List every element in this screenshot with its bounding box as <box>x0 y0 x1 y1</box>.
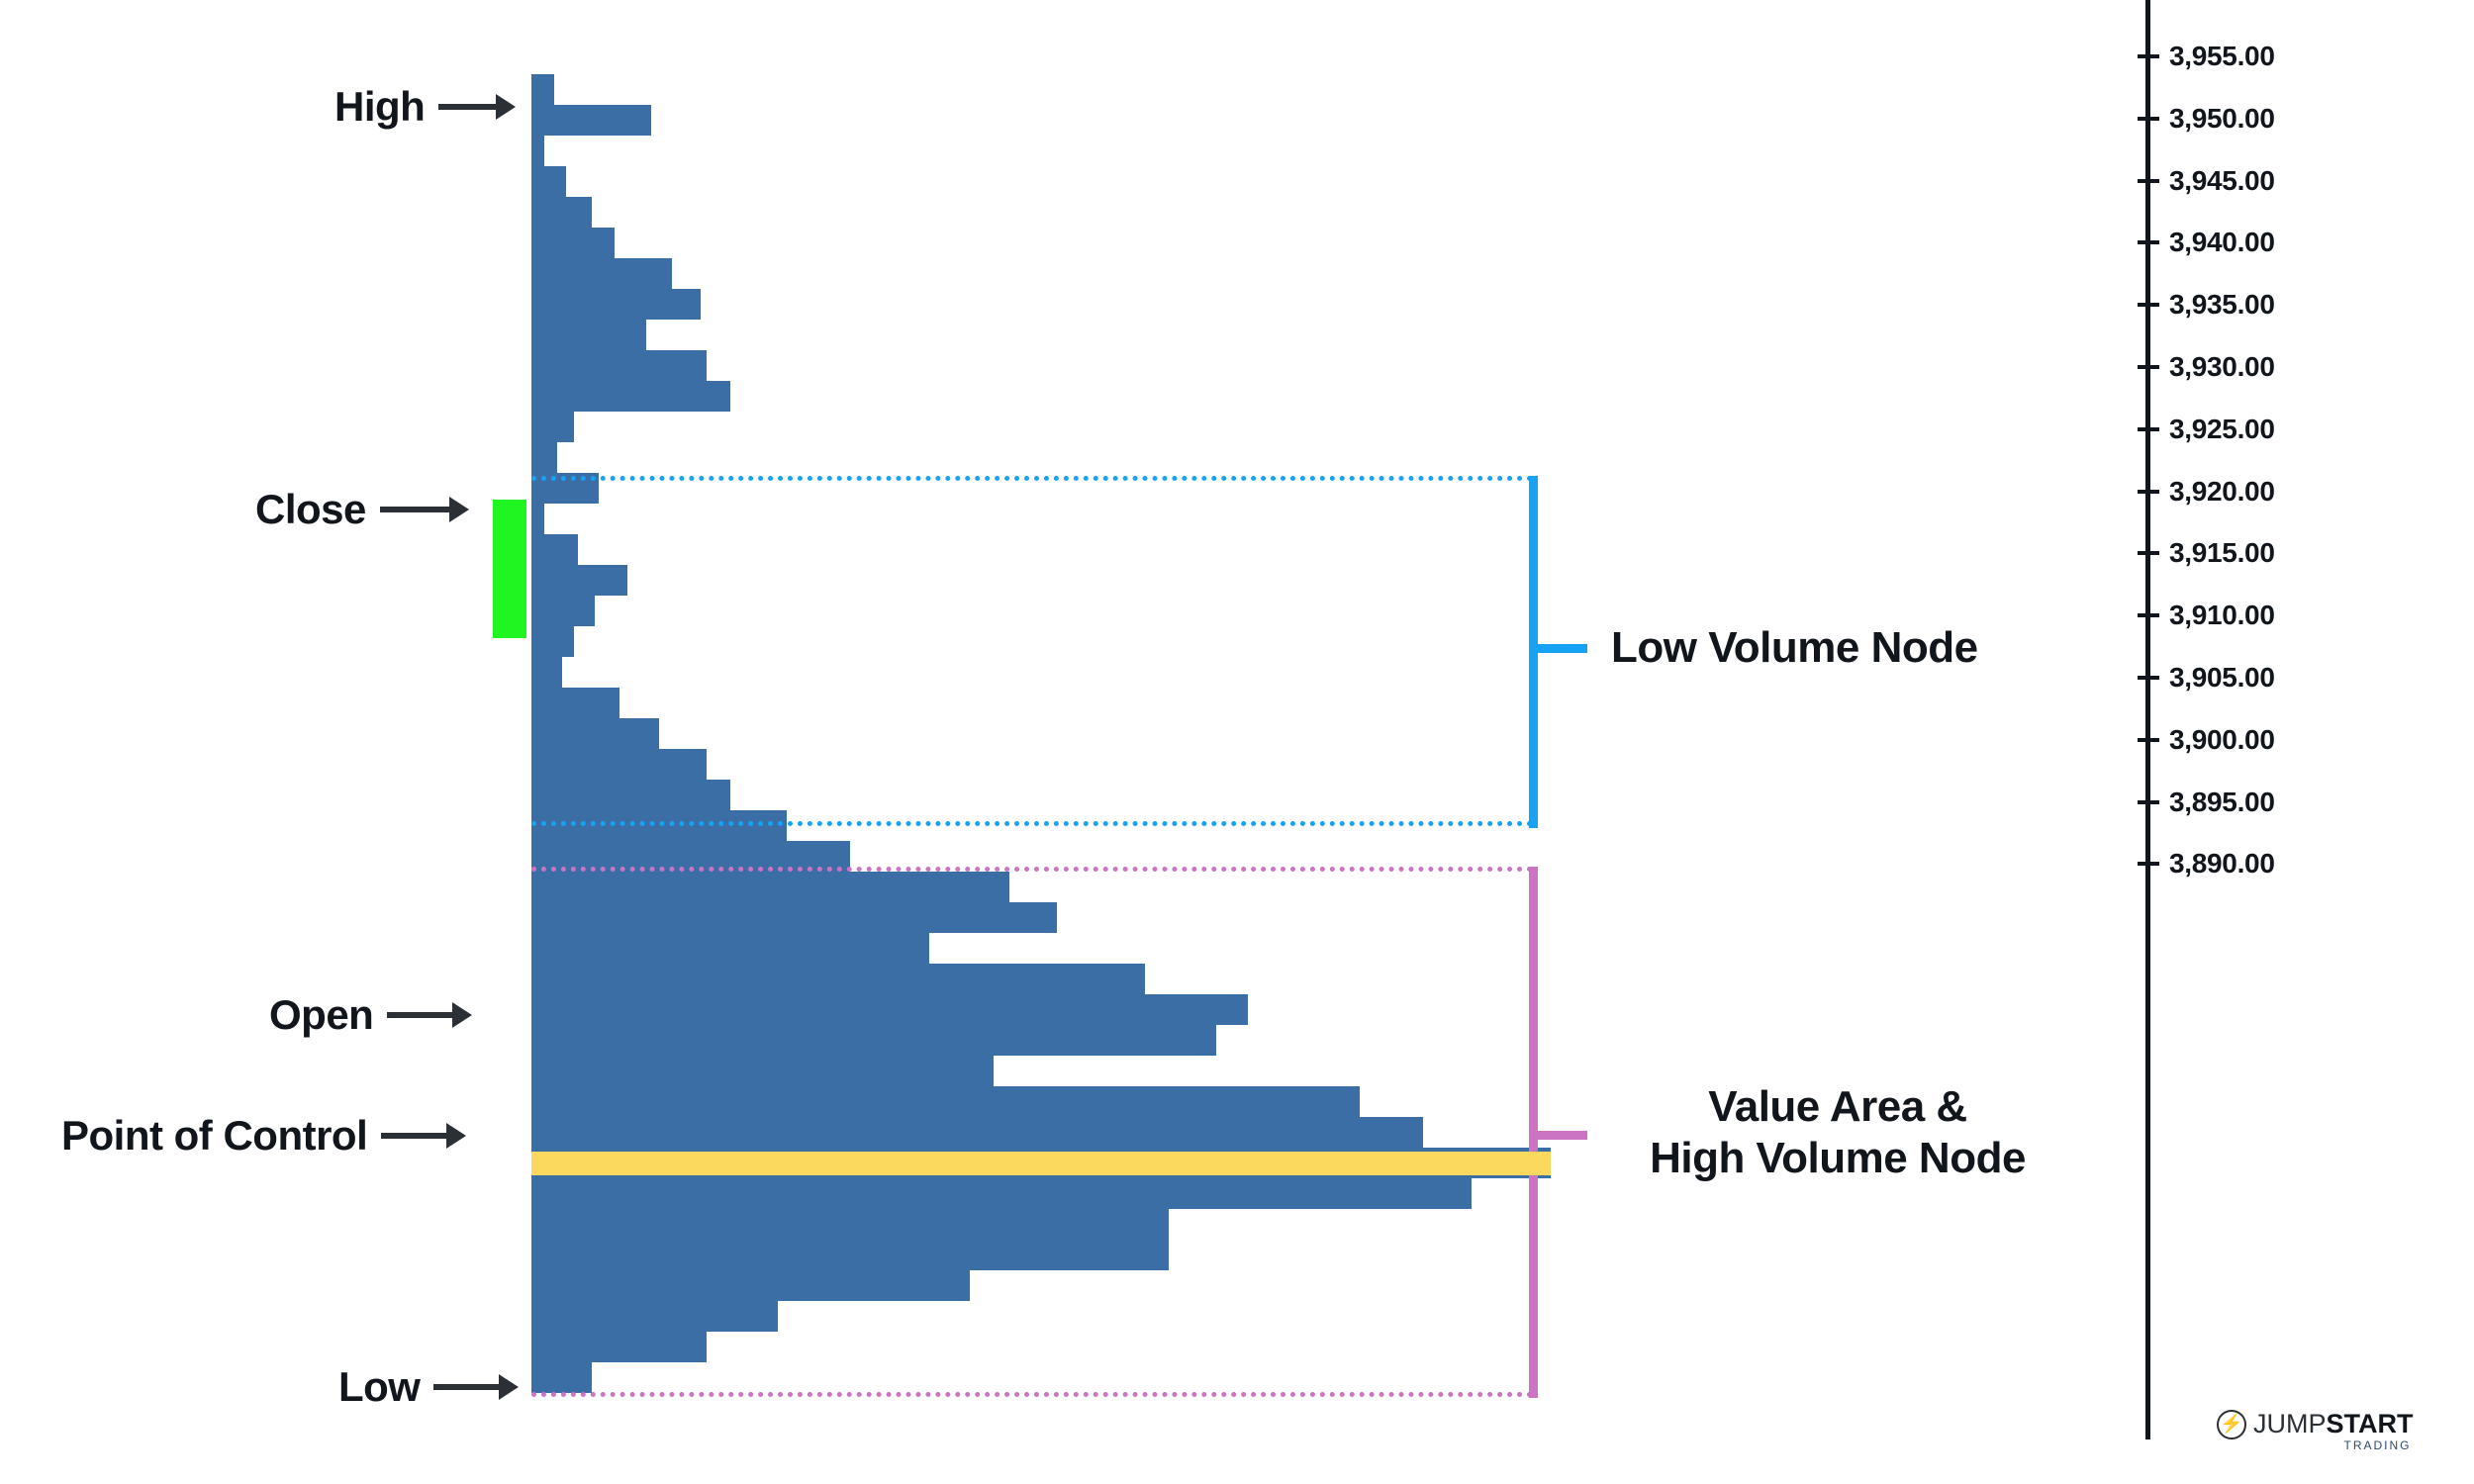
price-axis-tick-label: 3,925.00 <box>2169 414 2275 445</box>
arrow-right-icon <box>438 94 516 120</box>
price-axis-tick-label: 3,890.00 <box>2169 848 2275 880</box>
label-low-volume-node: Low Volume Node <box>1611 622 1978 674</box>
volume-bar <box>531 289 701 320</box>
price-axis-tick <box>2138 800 2159 804</box>
label-point-of-control: Point of Control <box>61 1115 466 1157</box>
low-volume-node-box <box>531 476 1533 826</box>
value-area-box <box>531 867 1533 1397</box>
logo-word-start: START <box>2327 1409 2414 1439</box>
volume-bar <box>531 74 554 105</box>
price-axis-tick-label: 3,915.00 <box>2169 537 2275 569</box>
price-axis-tick <box>2138 365 2159 369</box>
lightning-bolt-icon: ⚡ <box>2217 1410 2246 1439</box>
price-axis-tick <box>2138 738 2159 742</box>
logo-word-jump: JUMP <box>2253 1409 2327 1439</box>
price-axis-tick-label: 3,905.00 <box>2169 662 2275 694</box>
arrow-right-icon <box>433 1374 519 1400</box>
jumpstart-trading-logo: ⚡ JUMP START TRADING <box>2217 1409 2414 1439</box>
volume-bar <box>531 320 646 350</box>
arrow-right-icon <box>380 497 471 522</box>
price-axis-tick-label: 3,940.00 <box>2169 227 2275 258</box>
label-high-text: High <box>334 86 425 128</box>
price-axis-tick <box>2138 862 2159 866</box>
price-axis-tick <box>2138 117 2159 121</box>
volume-profile-chart: High Close Open Point of Control Low <box>0 0 2474 1484</box>
arrow-right-icon <box>381 1123 466 1149</box>
value-area-bracket-tick <box>1538 1131 1587 1140</box>
price-axis-tick <box>2138 551 2159 555</box>
label-point-of-control-text: Point of Control <box>61 1115 367 1157</box>
price-axis-tick <box>2138 613 2159 617</box>
label-value-area-line2: High Volume Node <box>1605 1133 2070 1184</box>
label-close: Close <box>255 489 471 530</box>
label-open-text: Open <box>269 994 373 1036</box>
label-value-area: Value Area & High Volume Node <box>1605 1081 2070 1184</box>
label-close-text: Close <box>255 489 366 530</box>
price-axis-tick-label: 3,895.00 <box>2169 787 2275 818</box>
price-axis-tick <box>2138 490 2159 494</box>
price-axis-tick <box>2138 240 2159 244</box>
price-axis-tick-label: 3,945.00 <box>2169 165 2275 197</box>
candle-body-up <box>493 500 526 638</box>
low-volume-node-bracket <box>1529 476 1538 828</box>
volume-bar <box>531 442 557 473</box>
volume-bar <box>531 166 566 197</box>
label-low: Low <box>338 1366 519 1408</box>
price-axis-tick-label: 3,900.00 <box>2169 724 2275 756</box>
label-low-volume-node-text: Low Volume Node <box>1611 623 1978 672</box>
price-axis-tick <box>2138 427 2159 431</box>
volume-bar <box>531 228 615 258</box>
logo-tagline: TRADING <box>2344 1438 2412 1452</box>
price-axis-tick-label: 3,920.00 <box>2169 476 2275 508</box>
volume-bar <box>531 412 574 442</box>
price-axis-tick <box>2138 54 2159 58</box>
volume-bar <box>531 381 730 412</box>
volume-bar <box>531 197 592 228</box>
price-axis-tick-label: 3,950.00 <box>2169 103 2275 135</box>
label-low-text: Low <box>338 1366 420 1408</box>
volume-bar <box>531 136 544 166</box>
value-area-bracket <box>1529 867 1538 1398</box>
price-axis-tick-label: 3,930.00 <box>2169 351 2275 383</box>
low-volume-node-bracket-tick <box>1538 644 1587 653</box>
volume-bar <box>531 258 672 289</box>
label-value-area-line1: Value Area & <box>1605 1081 2070 1133</box>
arrow-right-icon <box>387 1002 472 1028</box>
price-axis-tick-label: 3,955.00 <box>2169 41 2275 72</box>
volume-bar <box>531 350 707 381</box>
point-of-control-bar <box>531 1152 1551 1175</box>
volume-bar <box>531 105 651 136</box>
label-open: Open <box>269 994 472 1036</box>
price-axis-tick-label: 3,910.00 <box>2169 600 2275 631</box>
price-axis-tick-label: 3,935.00 <box>2169 289 2275 321</box>
price-axis-tick <box>2138 676 2159 680</box>
label-high: High <box>334 86 516 128</box>
logo-bolt-glyph: ⚡ <box>2220 1415 2243 1434</box>
price-axis-tick <box>2138 179 2159 183</box>
price-axis-line <box>2145 0 2150 1439</box>
price-axis-tick <box>2138 303 2159 307</box>
